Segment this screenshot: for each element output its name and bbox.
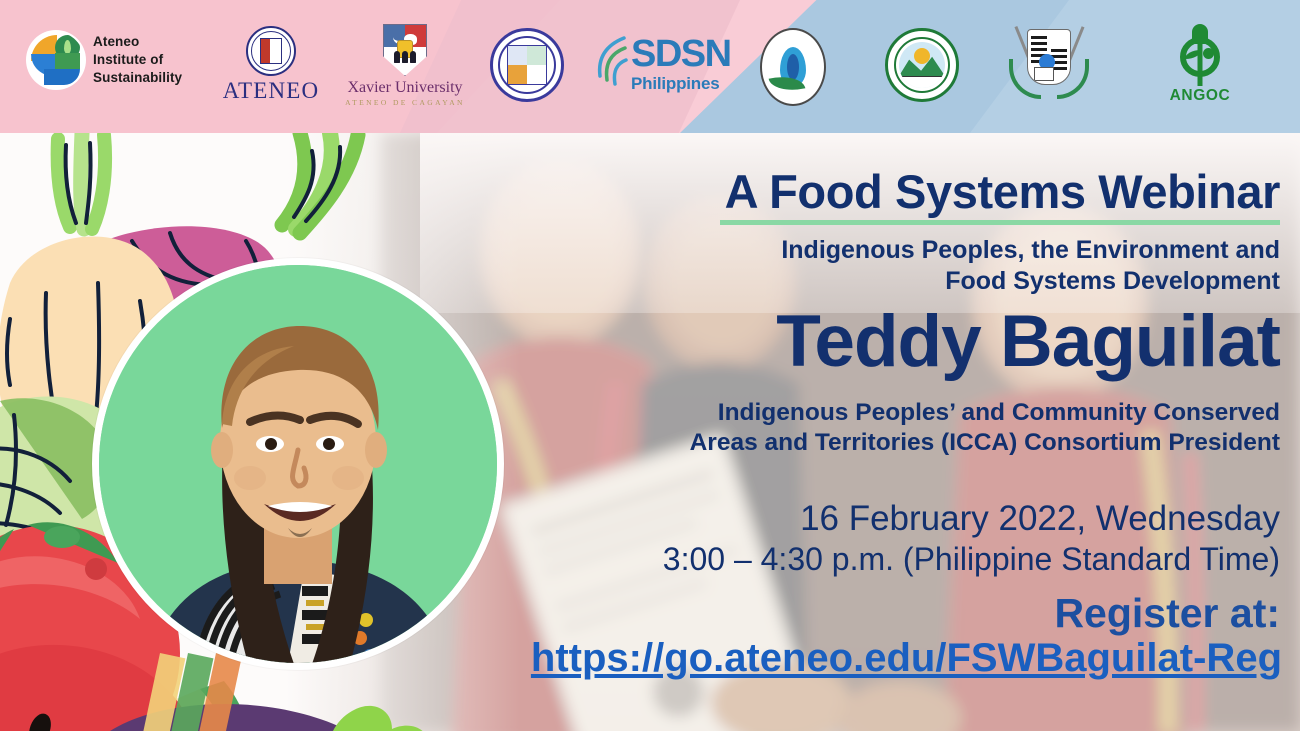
angoc-plant-icon [1171, 24, 1229, 86]
speaker-role: Indigenous Peoples’ and Community Conser… [540, 398, 1280, 458]
logo-xavier-science-foundation[interactable] [757, 28, 829, 106]
speaker-role-line-1: Indigenous Peoples’ and Community Conser… [540, 398, 1280, 428]
sdsn-arcs-icon [594, 34, 628, 92]
title-underline-rule [720, 220, 1280, 225]
xavier-wordmark: Xavier University [347, 79, 462, 97]
subtitle-line-1: Indigenous Peoples, the Environment and [540, 235, 1280, 266]
ais-label-line2: Institute of [93, 51, 182, 69]
speaker-portrait [92, 258, 504, 670]
page-title: A Food Systems Webinar [540, 168, 1280, 215]
logo-ateneo-de-manila[interactable]: ATENEO [225, 26, 317, 104]
logo-portulin-talaandig[interactable] [884, 28, 960, 102]
tribal-crest-icon [1007, 23, 1091, 103]
logo-sdsn-philippines[interactable]: SDSN Philippines [594, 34, 731, 92]
logo-ateneo-institute-of-sustainability[interactable]: Ateneo Institute of Sustainability [28, 32, 182, 88]
xavier-subtitle: ATENEO DE CAGAYAN [345, 98, 465, 107]
sdsn-wordmark: SDSN [631, 35, 731, 73]
logo-tribal-crest[interactable] [1004, 23, 1094, 103]
ptta-seal-icon [885, 28, 959, 102]
speaker-role-line-2: Areas and Territories (ICCA) Consortium … [540, 428, 1280, 458]
sdsn-subtitle: Philippines [631, 75, 731, 92]
webinar-subtitle: Indigenous Peoples, the Environment and … [540, 235, 1280, 296]
event-time: 3:00 – 4:30 p.m. (Philippine Standard Ti… [540, 541, 1280, 579]
angoc-wordmark: ANGOC [1170, 87, 1231, 105]
poster-text-column: A Food Systems Webinar Indigenous People… [500, 133, 1300, 731]
ateneo-davao-seal-icon [490, 28, 564, 102]
webinar-poster: Ateneo Institute of Sustainability ATENE… [0, 0, 1300, 731]
ais-label-line1: Ateneo [93, 33, 182, 51]
event-date: 16 February 2022, Wednesday [540, 498, 1280, 539]
xsf-seal-icon [760, 28, 826, 106]
registration-link[interactable]: https://go.ateneo.edu/FSWBaguilat-Reg [502, 638, 1282, 678]
register-label: Register at: [540, 593, 1280, 634]
logo-xavier-university[interactable]: Xavier University ATENEO DE CAGAYAN [340, 24, 470, 107]
ateneo-wordmark: ATENEO [223, 78, 320, 104]
subtitle-line-2: Food Systems Development [540, 266, 1280, 297]
logo-ateneo-de-davao[interactable] [487, 28, 567, 102]
logo-angoc[interactable]: ANGOC [1160, 24, 1240, 105]
ateneo-seal-icon [246, 26, 296, 76]
onion-greens [58, 133, 105, 229]
ais-circle-icon [28, 32, 84, 88]
xavier-shield-icon [383, 24, 427, 76]
partner-logo-band: Ateneo Institute of Sustainability ATENE… [0, 0, 1300, 133]
ais-label-line3: Sustainability [93, 69, 182, 87]
speaker-name: Teddy Baguilat [540, 305, 1280, 378]
